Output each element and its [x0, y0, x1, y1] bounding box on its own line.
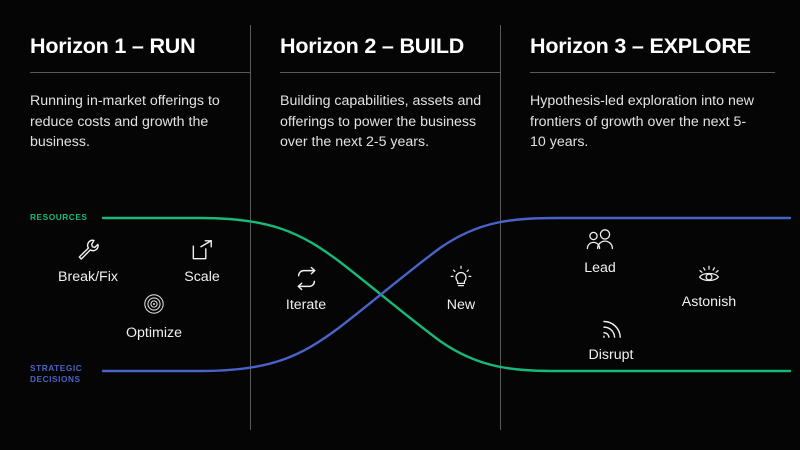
header-rule-2: [280, 72, 500, 73]
slide-canvas: Horizon 1 – RUN Running in-market offeri…: [0, 0, 800, 450]
wrench-icon: [33, 237, 143, 265]
icon-label-new: New: [406, 297, 516, 313]
icon-label-scale: Scale: [147, 269, 257, 285]
people-icon: [545, 228, 655, 256]
curve-label-strategic-line1: STRATEGIC: [30, 363, 82, 373]
loop-arrows-icon: [251, 265, 361, 293]
icon-label-disrupt: Disrupt: [556, 347, 666, 363]
icon-item-iterate[interactable]: Iterate: [251, 265, 361, 313]
icon-item-optimize[interactable]: Optimize: [99, 293, 209, 341]
lightbulb-icon: [406, 265, 516, 293]
expand-arrow-icon: [147, 237, 257, 265]
page-title-horizon-1: Horizon 1 – RUN: [30, 34, 195, 59]
column-horizon-2: Horizon 2 – BUILD Building capabilities,…: [250, 0, 500, 450]
column-body-horizon-1: Running in-market offerings to reduce co…: [30, 91, 245, 153]
icon-label-astonish: Astonish: [654, 294, 764, 310]
icon-item-lead[interactable]: Lead: [545, 228, 655, 276]
icon-label-break-fix: Break/Fix: [33, 269, 143, 285]
eye-icon: [654, 262, 764, 290]
icon-label-optimize: Optimize: [99, 325, 209, 341]
icon-label-iterate: Iterate: [251, 297, 361, 313]
icon-item-scale[interactable]: Scale: [147, 237, 257, 285]
page-title-horizon-2: Horizon 2 – BUILD: [280, 34, 464, 59]
icon-item-astonish[interactable]: Astonish: [654, 262, 764, 310]
icon-item-new[interactable]: New: [406, 265, 516, 313]
column-body-horizon-2: Building capabilities, assets and offeri…: [280, 91, 490, 153]
curve-label-strategic-line2: DECISIONS: [30, 374, 81, 384]
curve-label-strategic-decisions: STRATEGIC DECISIONS: [30, 363, 82, 385]
page-title-horizon-3: Horizon 3 – EXPLORE: [530, 34, 751, 59]
target-icon: [99, 293, 209, 321]
signal-waves-icon: [556, 315, 666, 343]
header-rule-3: [530, 72, 775, 73]
curve-label-resources: RESOURCES: [30, 212, 88, 223]
icon-label-lead: Lead: [545, 260, 655, 276]
header-rule-1: [30, 72, 250, 73]
icon-item-break-fix[interactable]: Break/Fix: [33, 237, 143, 285]
column-body-horizon-3: Hypothesis-led exploration into new fron…: [530, 91, 760, 153]
icon-item-disrupt[interactable]: Disrupt: [556, 315, 666, 363]
column-horizon-3: Horizon 3 – EXPLORE Hypothesis-led explo…: [500, 0, 800, 450]
